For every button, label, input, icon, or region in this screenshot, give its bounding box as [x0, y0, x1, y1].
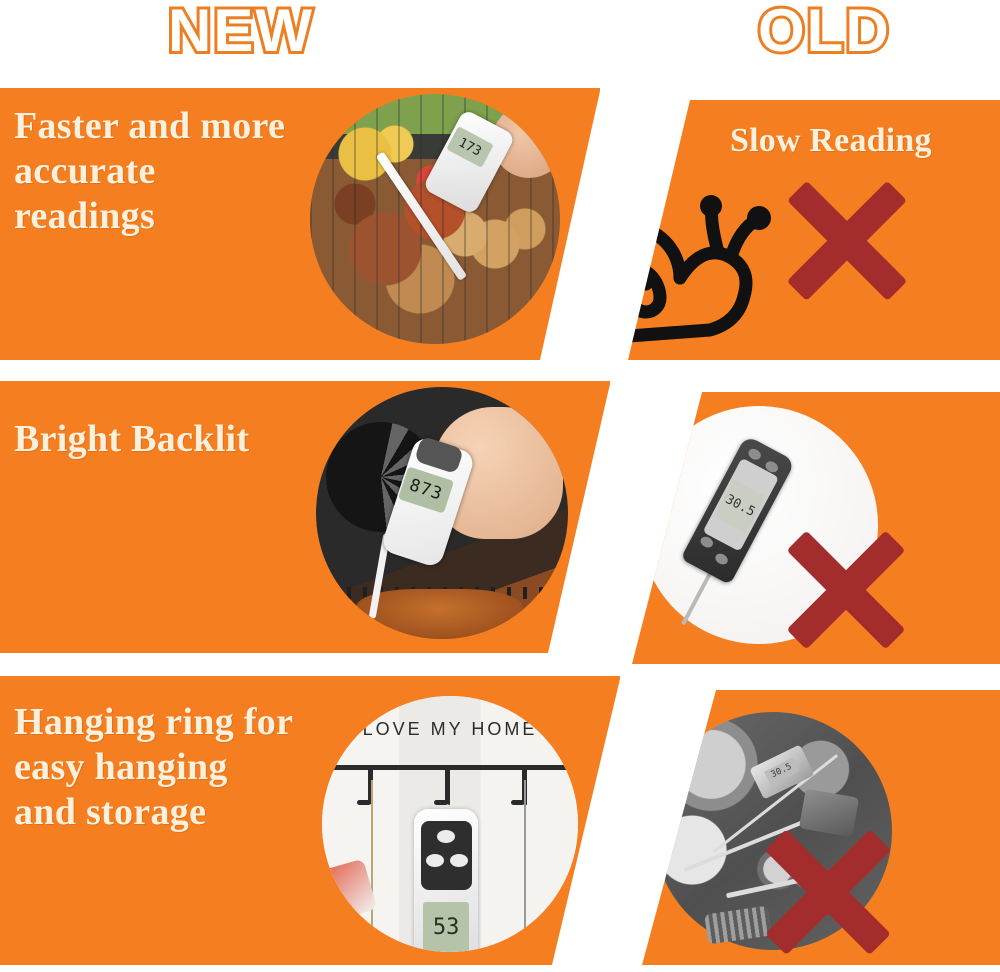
thermometer-display: 53	[423, 902, 469, 952]
new-panel-row-1: Faster and more accurate readings 173	[0, 88, 600, 360]
hanging-thermometer: 53	[414, 809, 478, 952]
new-feature-text-2: Bright Backlit	[14, 417, 344, 462]
header-new: NEW	[168, 0, 314, 65]
new-feature-text-3: Hanging ring for easy hanging and storag…	[14, 700, 354, 834]
thermometer-button	[714, 552, 730, 567]
thermometer-button	[746, 447, 762, 462]
header-old: OLD	[758, 0, 891, 65]
new-panel-row-3: Hanging ring for easy hanging and storag…	[0, 676, 620, 965]
hanging-rack-photo: LOVE MY HOME 53	[322, 696, 578, 952]
hook-rail	[322, 765, 578, 770]
meat-shape	[356, 589, 522, 639]
old-drawer-display: 30.5	[764, 758, 799, 785]
red-x-mark-3	[754, 818, 902, 965]
red-x-mark-2	[776, 520, 916, 660]
comparison-infographic: NEW OLD Faster and more accurate reading…	[0, 0, 1000, 972]
old-panel-row-3: 30.5	[582, 690, 1000, 965]
new-panel-row-2: Bright Backlit 873	[0, 381, 610, 653]
thermometer-button	[426, 854, 444, 867]
wall-hook	[445, 765, 450, 805]
hanging-cord	[524, 780, 526, 928]
thermometer-button	[437, 830, 455, 843]
old-panel-row-1: Slow Reading	[560, 100, 1000, 360]
rack-label: LOVE MY HOME	[322, 719, 578, 740]
red-x-mark-1	[776, 170, 918, 312]
grilled-food-thermometer-photo: 173	[310, 94, 560, 344]
old-panel-row-2: 30.5	[570, 392, 1000, 664]
backlit-thermometer-photo: 873	[316, 387, 568, 639]
thermometer-button	[450, 854, 468, 867]
old-feature-text-1: Slow Reading	[730, 122, 932, 160]
new-feature-text-1: Faster and more accurate readings	[14, 104, 354, 238]
